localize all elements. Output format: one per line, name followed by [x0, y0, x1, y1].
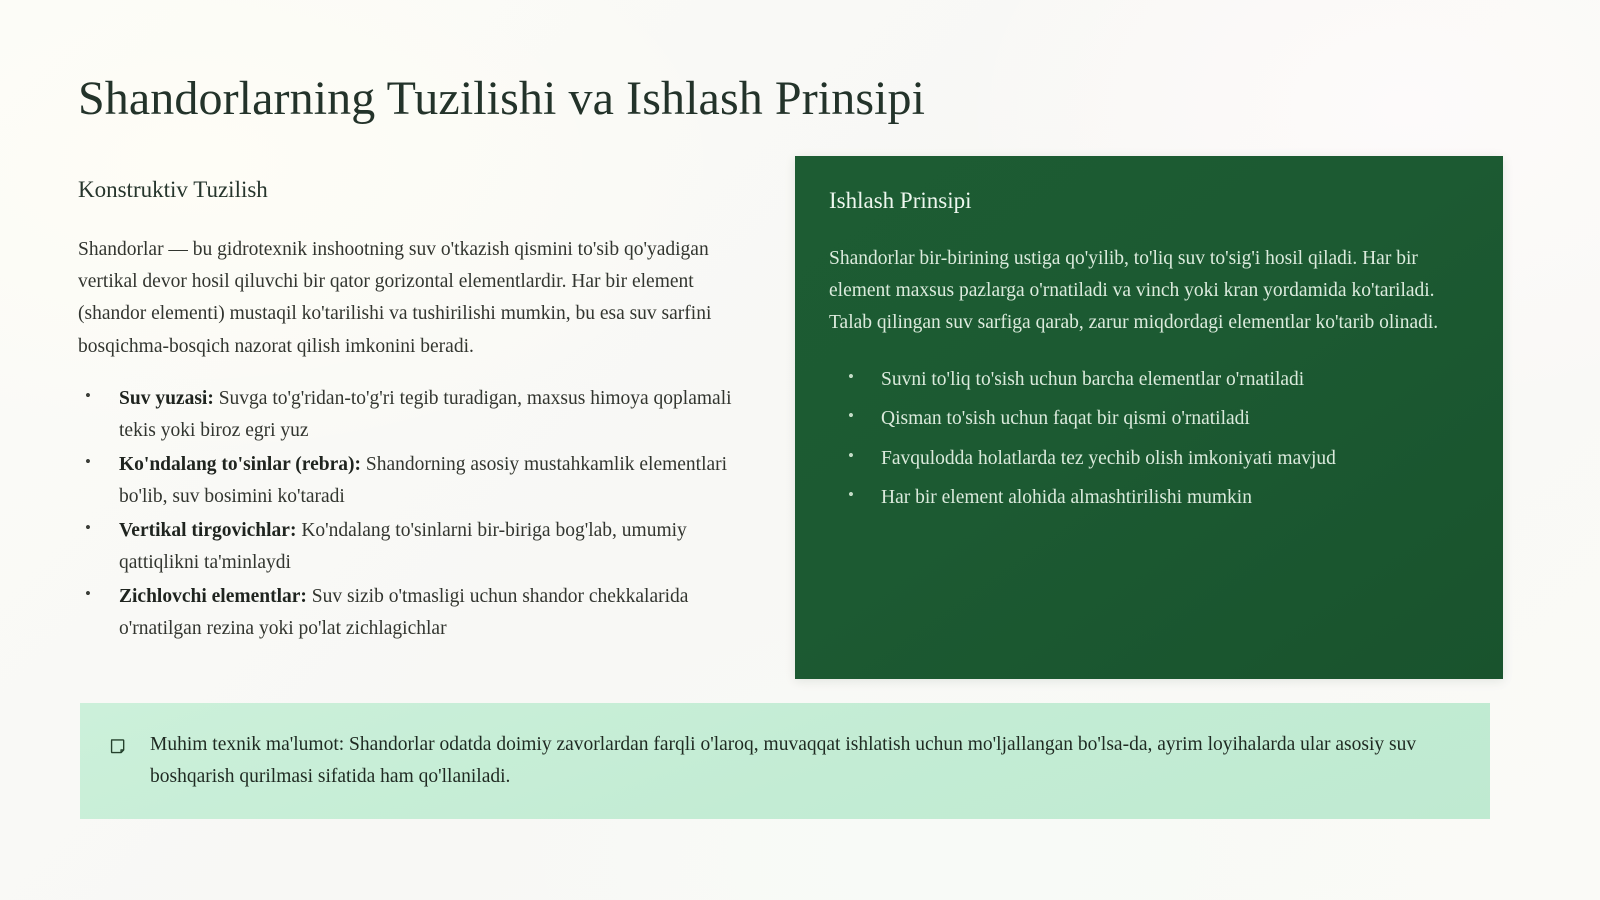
list-item: Suvni to'liq to'sish uchun barcha elemen…	[829, 364, 1469, 396]
bullet-term: Ko'ndalang to'sinlar (rebra):	[119, 454, 361, 475]
right-panel: Ishlash Prinsipi Shandorlar bir-birining…	[795, 156, 1503, 679]
list-item: Qisman to'sish uchun faqat bir qismi o'r…	[829, 403, 1469, 435]
page-title: Shandorlarning Tuzilishi va Ishlash Prin…	[78, 72, 1498, 126]
callout-box: Muhim texnik ma'lumot: Shandorlar odatda…	[80, 703, 1490, 819]
left-column-bullet-list: Suv yuzasi: Suvga to'g'ridan-to'g'ri teg…	[78, 383, 746, 645]
left-column: Konstruktiv Tuzilish Shandorlar — bu gid…	[78, 176, 746, 647]
note-icon	[108, 737, 130, 759]
content-columns: Konstruktiv Tuzilish Shandorlar — bu gid…	[0, 156, 1600, 681]
list-item: Ko'ndalang to'sinlar (rebra): Shandornin…	[78, 449, 746, 513]
list-item: Suv yuzasi: Suvga to'g'ridan-to'g'ri teg…	[78, 383, 746, 447]
right-panel-heading: Ishlash Prinsipi	[829, 187, 1469, 215]
list-item: Vertikal tirgovichlar: Ko'ndalang to'sin…	[78, 515, 746, 579]
left-column-heading: Konstruktiv Tuzilish	[78, 176, 746, 204]
right-panel-paragraph: Shandorlar bir-birining ustiga qo'yilib,…	[829, 243, 1469, 340]
right-panel-bullet-list: Suvni to'liq to'sish uchun barcha elemen…	[829, 364, 1469, 514]
bullet-term: Suv yuzasi:	[119, 388, 214, 409]
list-item: Zichlovchi elementlar: Suv sizib o'tmasl…	[78, 581, 746, 645]
bullet-term: Vertikal tirgovichlar:	[119, 520, 296, 541]
list-item: Har bir element alohida almashtirilishi …	[829, 482, 1469, 514]
slide-root: Shandorlarning Tuzilishi va Ishlash Prin…	[0, 0, 1600, 900]
bullet-term: Zichlovchi elementlar:	[119, 586, 307, 607]
list-item: Favqulodda holatlarda tez yechib olish i…	[829, 443, 1469, 475]
callout-text: Muhim texnik ma'lumot: Shandorlar odatda…	[150, 729, 1460, 792]
left-column-paragraph: Shandorlar — bu gidrotexnik inshootning …	[78, 234, 746, 363]
